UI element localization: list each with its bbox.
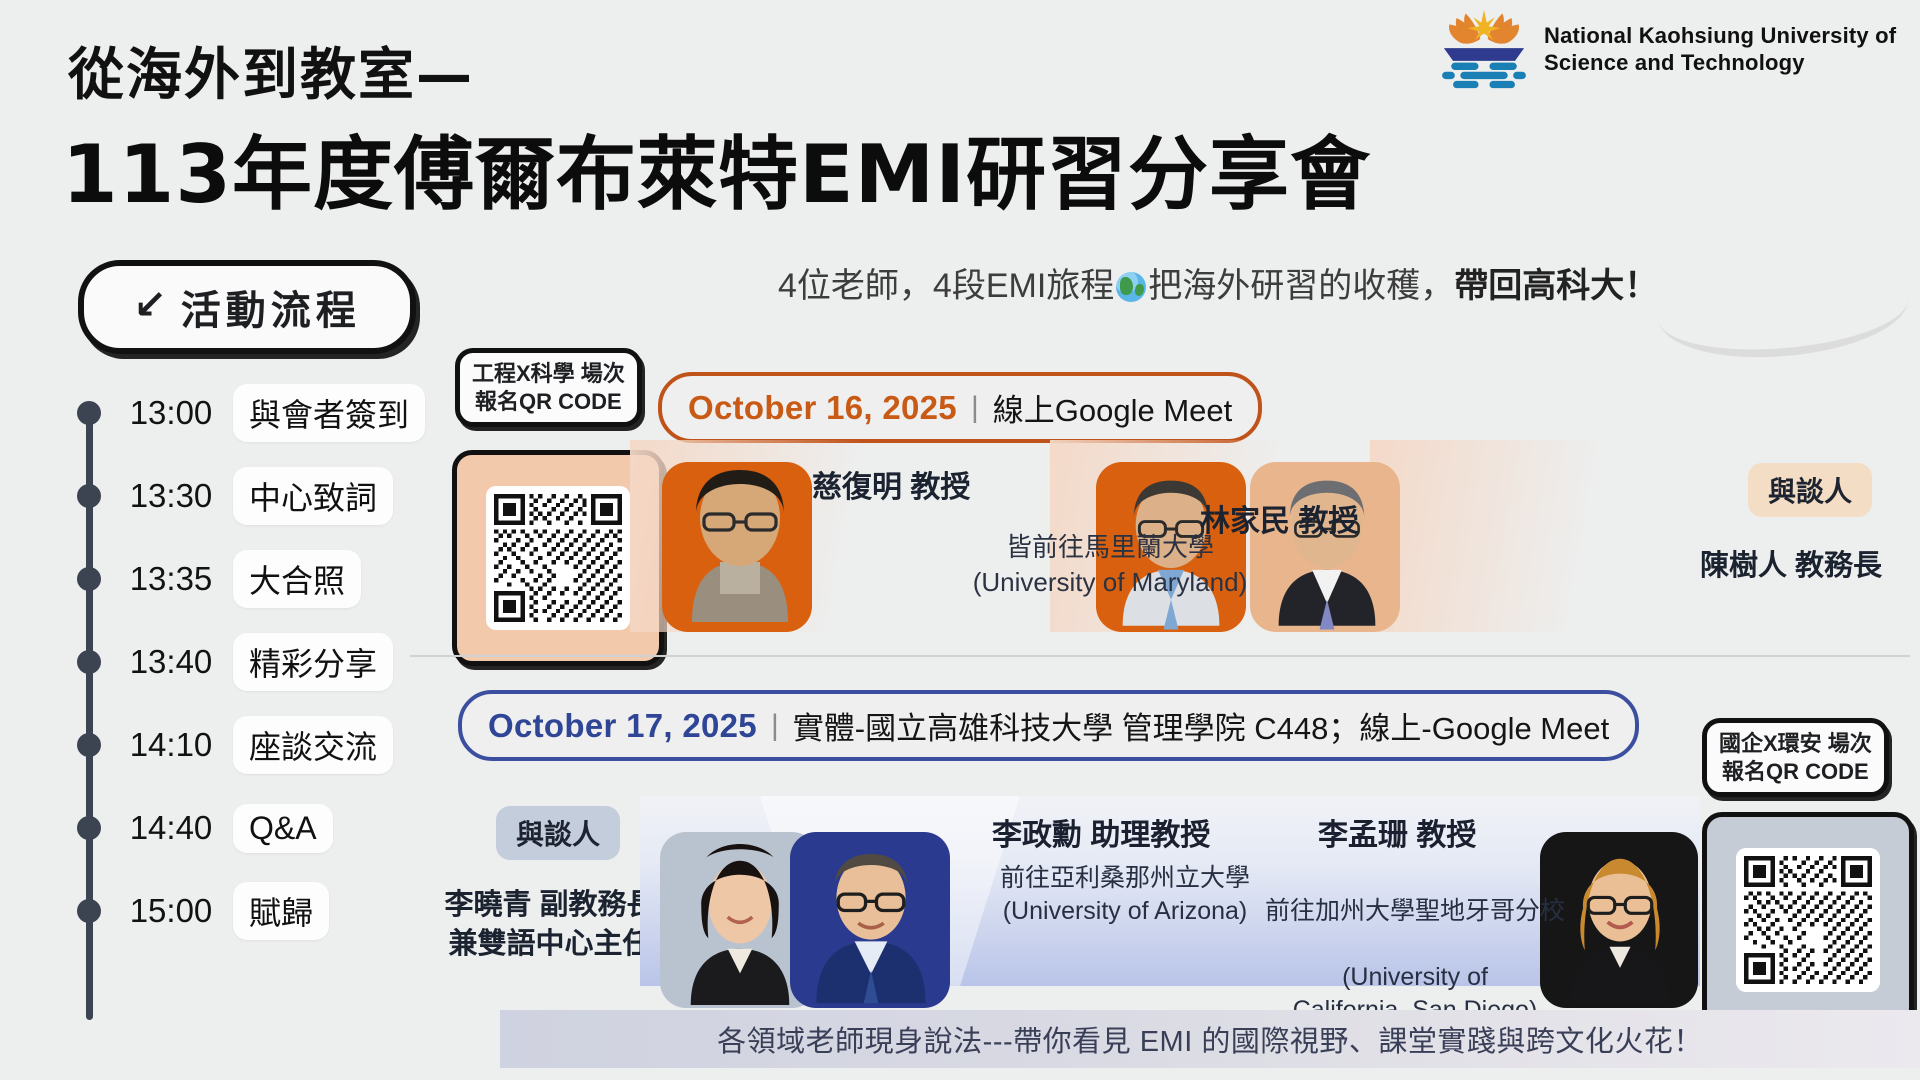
timeline-item: 15:00 賦歸 — [78, 888, 329, 934]
timeline-dot-icon — [77, 899, 101, 923]
timeline-label: 座談交流 — [233, 716, 393, 774]
open-book-sunrise-logo-icon — [1438, 8, 1530, 90]
session1-qr-inner — [486, 486, 630, 630]
timeline-dot-icon — [77, 650, 101, 674]
timeline-dot-icon — [77, 816, 101, 840]
session2-discussant-name-line1: 李曉青 副教務長 — [430, 886, 670, 925]
subtitle-part1: 4位老師，4段EMI旅程 — [778, 267, 1114, 305]
avatar-photo — [780, 800, 962, 1010]
section-divider — [410, 655, 1910, 657]
session2-speaker-1-destination-zh: 前往亞利桑那州立大學 — [960, 862, 1290, 895]
session1-speaker-1-name: 慈復明 教授 — [812, 462, 970, 506]
timeline-label: Q&A — [233, 804, 333, 853]
session2-qr-caption-line2: 報名QR CODE — [1719, 758, 1872, 786]
session2-qr-caption: 國企X環安 場次 報名QR CODE — [1702, 718, 1889, 797]
session2-speaker-2-name: 李孟珊 教授 — [1318, 810, 1476, 854]
session2-speaker-1-name: 李政勳 助理教授 — [992, 810, 1210, 854]
kicker-text: 從海外到教室— — [68, 30, 474, 111]
session2-speaker-2-destination-zh: 前往加州大學聖地牙哥分校 — [1250, 895, 1580, 928]
session1-qr-caption: 工程X科學 場次 報名QR CODE — [455, 348, 642, 427]
timeline-label: 中心致詞 — [233, 467, 393, 525]
footer-ribbon: 各領域老師現身說法---帶你看見 EMI 的國際視野、課堂實踐與跨文化火花！ — [500, 1010, 1920, 1068]
timeline-label: 賦歸 — [233, 882, 329, 940]
subtitle-part2: 把海外研習的收穫， — [1148, 267, 1454, 305]
timeline-item: 13:40 精彩分享 — [78, 639, 393, 685]
qr-code-icon — [1744, 856, 1872, 984]
session1-qr-caption-line1: 工程X科學 場次 — [472, 360, 625, 388]
session2-qr-inner — [1736, 848, 1880, 992]
globe-icon — [1116, 272, 1146, 302]
timeline-item: 13:35 大合照 — [78, 556, 361, 602]
university-name-line2: Science and Technology — [1544, 49, 1896, 77]
session1-separator: | — [971, 391, 979, 425]
session2-date-venue-pill: October 17, 2025 | 實體-國立高雄科技大學 管理學院 C448… — [458, 690, 1639, 761]
timeline-time: 13:40 — [117, 643, 225, 681]
activity-flow-label: 活動流程 — [181, 278, 361, 336]
session2-qr-caption-line1: 國企X環安 場次 — [1719, 730, 1872, 758]
session2-discussant-name: 李曉青 副教務長 兼雙語中心主任 — [430, 886, 670, 964]
poster-root: National Kaohsiung University of Science… — [0, 0, 1920, 1080]
session1-date-venue-pill: October 16, 2025 | 線上Google Meet — [658, 372, 1262, 443]
session2-discussant-name-line2: 兼雙語中心主任 — [430, 925, 670, 964]
timeline-time: 15:00 — [117, 892, 225, 930]
timeline-label: 大合照 — [233, 550, 361, 608]
session1-discussant-name: 陳樹人 教務長 — [1700, 542, 1882, 584]
timeline-item: 14:40 Q&A — [78, 805, 333, 851]
university-logo-block: National Kaohsiung University of Science… — [1438, 8, 1896, 90]
session2-speaker-1-destination: 前往亞利桑那州立大學 (University of Arizona) — [960, 862, 1290, 928]
arrow-down-left-icon: ↙ — [133, 285, 167, 325]
decorative-swoosh — [1658, 289, 1912, 367]
timeline-time: 13:30 — [117, 477, 225, 515]
session2-speaker-1-destination-en: (University of Arizona) — [960, 895, 1290, 928]
subtitle: 4位老師，4段EMI旅程把海外研習的收穫，帶回高科大！ — [778, 258, 1658, 307]
session1-destination-zh: 皆前往馬里蘭大學 — [900, 530, 1320, 565]
university-name: National Kaohsiung University of Science… — [1544, 22, 1896, 77]
session1-date: October 16, 2025 — [688, 389, 957, 427]
schedule-timeline: 13:00 與會者簽到 13:30 中心致詞 13:35 大合照 13:40 精… — [78, 390, 408, 1030]
timeline-item: 14:10 座談交流 — [78, 722, 393, 768]
qr-code-icon — [494, 494, 622, 622]
session2-date: October 17, 2025 — [488, 707, 757, 745]
session2-venue: 實體-國立高雄科技大學 管理學院 C448；線上-Google Meet — [793, 703, 1609, 748]
timeline-label: 與會者簽到 — [233, 384, 425, 442]
session2-qr-code[interactable] — [1702, 812, 1914, 1028]
timeline-item: 13:00 與會者簽到 — [78, 390, 425, 436]
page-title: 113年度傅爾布萊特EMI研習分享會 — [62, 110, 1371, 226]
subtitle-emphasis: 帶回高科大！ — [1454, 267, 1658, 305]
timeline-time: 14:40 — [117, 809, 225, 847]
timeline-dot-icon — [77, 484, 101, 508]
timeline-dot-icon — [77, 733, 101, 757]
timeline-label: 精彩分享 — [233, 633, 393, 691]
session2-separator: | — [771, 709, 779, 743]
activity-flow-badge: ↙ 活動流程 — [78, 260, 416, 354]
timeline-dot-icon — [77, 567, 101, 591]
timeline-time: 14:10 — [117, 726, 225, 764]
session1-discussant-tag: 與談人 — [1748, 463, 1872, 517]
university-name-line1: National Kaohsiung University of — [1544, 22, 1896, 50]
timeline-item: 13:30 中心致詞 — [78, 473, 393, 519]
session1-shared-destination: 皆前往馬里蘭大學 (University of Maryland) — [900, 530, 1320, 600]
session1-qr-caption-line2: 報名QR CODE — [472, 388, 625, 416]
avatar-photo — [640, 440, 840, 632]
session1-destination-en: (University of Maryland) — [900, 565, 1320, 600]
footer-text: 各領域老師現身說法---帶你看見 EMI 的國際視野、課堂實踐與跨文化火花！ — [717, 1018, 1703, 1060]
timeline-time: 13:00 — [117, 394, 225, 432]
session2-discussant-tag: 與談人 — [496, 806, 620, 860]
timeline-dot-icon — [77, 401, 101, 425]
session1-venue: 線上Google Meet — [993, 385, 1233, 430]
timeline-time: 13:35 — [117, 560, 225, 598]
